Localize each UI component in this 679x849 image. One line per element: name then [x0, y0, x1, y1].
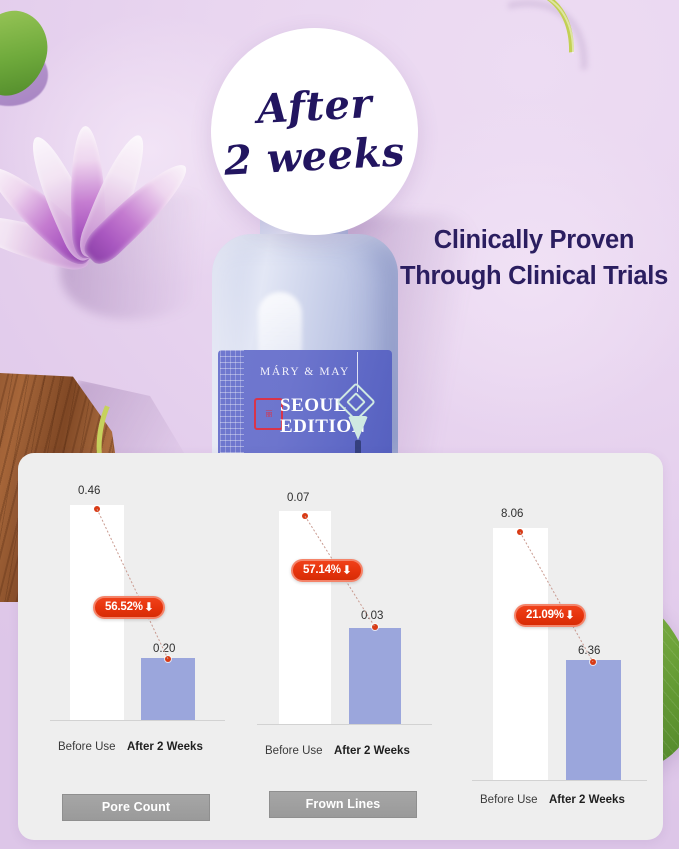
bottle-label: MÁRY & MAY 丽 SEOUL EDITION: [218, 350, 392, 465]
trend-connector-line: [243, 453, 448, 840]
chart-frown-lines: 0.07 0.03 57.14%⬇ Before Use After 2 Wee…: [243, 453, 448, 840]
axis-label-before: Before Use: [58, 741, 116, 753]
metric-title: Pore Count: [62, 794, 210, 821]
data-point-before: [94, 506, 100, 512]
bar-value-after: 0.20: [153, 643, 175, 655]
metric-title: Frown Lines: [269, 791, 417, 818]
down-arrow-icon: ⬇: [565, 610, 575, 621]
marketing-image: MÁRY & MAY 丽 SEOUL EDITION After 2 weeks…: [0, 0, 679, 849]
down-arrow-icon: ⬇: [342, 565, 352, 576]
data-point-after: [590, 659, 596, 665]
axis-label-before: Before Use: [265, 745, 323, 757]
bar-before-use: [493, 528, 548, 780]
data-point-after: [372, 624, 378, 630]
clematis-flower-icon: [0, 150, 197, 365]
down-arrow-icon: ⬇: [144, 602, 154, 613]
data-point-before: [517, 529, 523, 535]
reduction-percent: 56.52%: [105, 601, 143, 613]
axis-label-before: Before Use: [480, 794, 538, 806]
bar-before-use: [279, 511, 331, 724]
bar-value-after: 0.03: [361, 610, 383, 622]
axis-label-after: After 2 Weeks: [334, 745, 410, 757]
after-2-weeks-badge: After 2 weeks: [211, 28, 418, 235]
bar-value-before: 0.46: [78, 485, 100, 497]
bar-after-2-weeks: [141, 658, 195, 720]
brand-name: MÁRY & MAY: [218, 366, 392, 378]
reduction-percent: 57.14%: [303, 564, 341, 576]
chart-third-metric: 8.06 6.36 21.09%⬇ Before Use After 2 Wee…: [448, 453, 663, 840]
trend-connector-line: [448, 453, 663, 840]
axis-label-after: After 2 Weeks: [549, 794, 625, 806]
bar-value-before: 0.07: [287, 492, 309, 504]
bar-value-after: 6.36: [578, 645, 600, 657]
bar-after-2-weeks: [566, 660, 621, 780]
bar-value-before: 8.06: [501, 508, 523, 520]
clinical-results-panel: 0.46 0.20 56.52%⬇ Before Use After 2 Wee…: [18, 453, 663, 840]
korean-seal-icon: 丽: [254, 398, 283, 430]
axis-label-after: After 2 Weeks: [127, 741, 203, 753]
data-point-before: [302, 513, 308, 519]
chart-pore-count: 0.46 0.20 56.52%⬇ Before Use After 2 Wee…: [28, 453, 243, 840]
reduction-badge: 56.52%⬇: [93, 596, 165, 619]
bar-after-2-weeks: [349, 628, 401, 724]
reduction-badge: 57.14%⬇: [291, 559, 363, 582]
data-point-after: [165, 656, 171, 662]
axis-baseline: [50, 720, 225, 721]
badge-line-1: After: [256, 82, 373, 132]
badge-line-2: 2 weeks: [223, 130, 406, 183]
product-bottle: MÁRY & MAY 丽 SEOUL EDITION: [200, 200, 410, 460]
reduction-percent: 21.09%: [526, 609, 564, 621]
reduction-badge: 21.09%⬇: [514, 604, 586, 627]
axis-baseline: [257, 724, 432, 725]
page-title: Clinically Proven Through Clinical Trial…: [400, 222, 668, 294]
axis-baseline: [472, 780, 647, 781]
trend-connector-line: [28, 453, 243, 840]
